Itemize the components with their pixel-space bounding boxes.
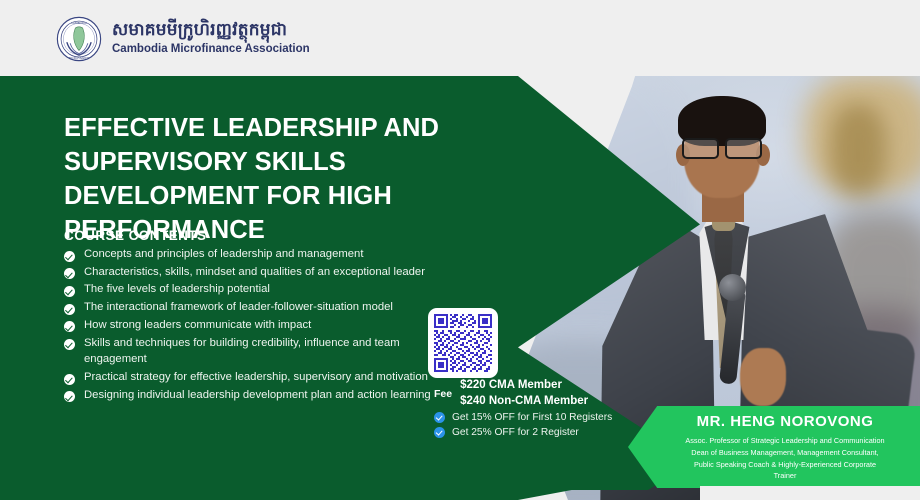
fee-block: Fee $220 CMA Member $240 Non-CMA Member (434, 378, 588, 409)
promotion-label: Get 25% OFF for 2 Register (452, 427, 579, 438)
svg-text:CAMBODIA: CAMBODIA (71, 21, 87, 25)
list-item-label: Practical strategy for effective leaders… (84, 369, 428, 386)
fee-non-member: $240 Non-CMA Member (460, 394, 588, 410)
fee-member: $220 CMA Member (460, 378, 588, 394)
check-circle-icon (64, 251, 75, 262)
fee-label: Fee (434, 388, 452, 400)
bottom-edge-strip (700, 486, 920, 500)
check-circle-icon (64, 304, 75, 315)
list-item: Designing individual leadership developm… (64, 387, 464, 404)
list-item-label: Concepts and principles of leadership an… (84, 246, 363, 263)
list-item: The five levels of leadership potential (64, 281, 464, 298)
list-item: Skills and techniques for building credi… (64, 335, 464, 368)
brand-text: សមាគមមីក្រូហិរញ្ញវត្ថុកម្ពុជា Cambodia M… (112, 21, 310, 56)
course-poster: CAMBODIA MICROFINANCE សមាគមមីក្រូហិរញ្ញវ… (0, 0, 920, 500)
qr-code-block[interactable] (428, 308, 498, 378)
speaker-role-line: Public Speaking Coach & Highly-Experienc… (662, 459, 908, 471)
check-circle-icon (64, 391, 75, 402)
speaker-role-line: Dean of Business Management, Management … (662, 447, 908, 459)
list-item-label: Characteristics, skills, mindset and qua… (84, 264, 425, 281)
check-circle-icon (64, 268, 75, 279)
list-item: Concepts and principles of leadership an… (64, 246, 464, 263)
promotions-list: Get 15% OFF for First 10 Registers Get 2… (434, 412, 612, 442)
list-item: The interactional framework of leader-fo… (64, 299, 464, 316)
list-item-label: The five levels of leadership potential (84, 281, 270, 298)
list-item: Get 15% OFF for First 10 Registers (434, 412, 612, 423)
cma-seal-icon: CAMBODIA MICROFINANCE (56, 16, 102, 62)
promotion-label: Get 15% OFF for First 10 Registers (452, 412, 612, 423)
check-circle-icon (64, 374, 75, 385)
speaker-banner: MR. HENG NOROVONG Assoc. Professor of St… (628, 406, 920, 488)
fee-values: $220 CMA Member $240 Non-CMA Member (460, 378, 588, 409)
brand-logo: CAMBODIA MICROFINANCE សមាគមមីក្រូហិរញ្ញវ… (56, 16, 310, 62)
list-item: Get 25% OFF for 2 Register (434, 427, 612, 438)
list-item: Practical strategy for effective leaders… (64, 369, 464, 386)
check-circle-icon (64, 321, 75, 332)
speaker-name: MR. HENG NOROVONG (662, 413, 908, 431)
course-contents-heading: COURSE CONTENTS (64, 228, 207, 243)
brand-name-english: Cambodia Microfinance Association (112, 43, 310, 57)
check-circle-icon (64, 286, 75, 297)
list-item-label: The interactional framework of leader-fo… (84, 299, 393, 316)
course-contents-list: Concepts and principles of leadership an… (64, 246, 464, 404)
check-circle-icon (434, 412, 445, 423)
qr-code-icon (434, 314, 492, 372)
list-item: How strong leaders communicate with impa… (64, 317, 464, 334)
brand-name-khmer: សមាគមមីក្រូហិរញ្ញវត្ថុកម្ពុជា (112, 21, 310, 41)
poster-header: CAMBODIA MICROFINANCE សមាគមមីក្រូហិរញ្ញវ… (0, 0, 920, 76)
check-circle-icon (64, 339, 75, 350)
speaker-role: Assoc. Professor of Strategic Leadership… (662, 435, 908, 482)
list-item-label: Designing individual leadership developm… (84, 387, 431, 404)
list-item: Characteristics, skills, mindset and qua… (64, 264, 464, 281)
list-item-label: Skills and techniques for building credi… (84, 335, 464, 368)
speaker-role-line: Trainer (662, 470, 908, 482)
check-circle-icon (434, 427, 445, 438)
svg-text:MICROFINANCE: MICROFINANCE (69, 56, 89, 60)
list-item-label: How strong leaders communicate with impa… (84, 317, 311, 334)
speaker-role-line: Assoc. Professor of Strategic Leadership… (662, 435, 908, 447)
